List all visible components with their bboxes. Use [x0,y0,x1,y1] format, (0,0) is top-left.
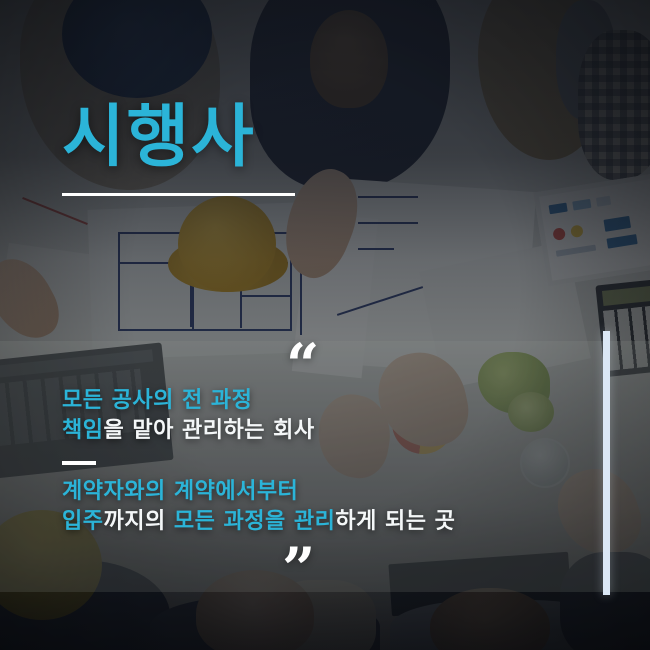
quote-close-icon: ” [282,540,315,598]
text-plain: 을 맡아 관리하는 회사 [103,418,314,443]
right-accent-bar [603,331,610,595]
paragraph-two-line-1: 계약자와의 계약에서부터 [62,477,622,507]
paragraph-one: 모든 공사의 전 과정 책임을 맡아 관리하는 회사 [62,386,582,446]
text-accent: 입주 [62,509,103,534]
text-accent: 책임 [62,418,103,443]
text-accent: 계약자와의 계약에서부터 [62,479,298,504]
title-underline [62,193,295,196]
slide-canvas: 시행사 “ ” 모든 공사의 전 과정 책임을 맡아 관리하는 회사 계약자와의… [0,0,650,650]
text-accent: 모든 과정을 관리 [166,509,336,534]
paragraph-two-line-2: 입주까지의 모든 과정을 관리하게 되는 곳 [62,507,622,537]
text-accent: 모든 공사의 전 과정 [62,388,252,413]
paragraph-one-line-1: 모든 공사의 전 과정 [62,386,582,416]
paragraph-one-line-2: 책임을 맡아 관리하는 회사 [62,416,582,446]
paragraph-divider [62,461,96,465]
page-title: 시행사 [62,104,256,172]
quote-overlay-panel [0,341,650,592]
text-plain: 까지의 [103,509,165,534]
paragraph-two: 계약자와의 계약에서부터 입주까지의 모든 과정을 관리하게 되는 곳 [62,477,622,537]
text-plain: 하게 되는 곳 [335,509,455,534]
